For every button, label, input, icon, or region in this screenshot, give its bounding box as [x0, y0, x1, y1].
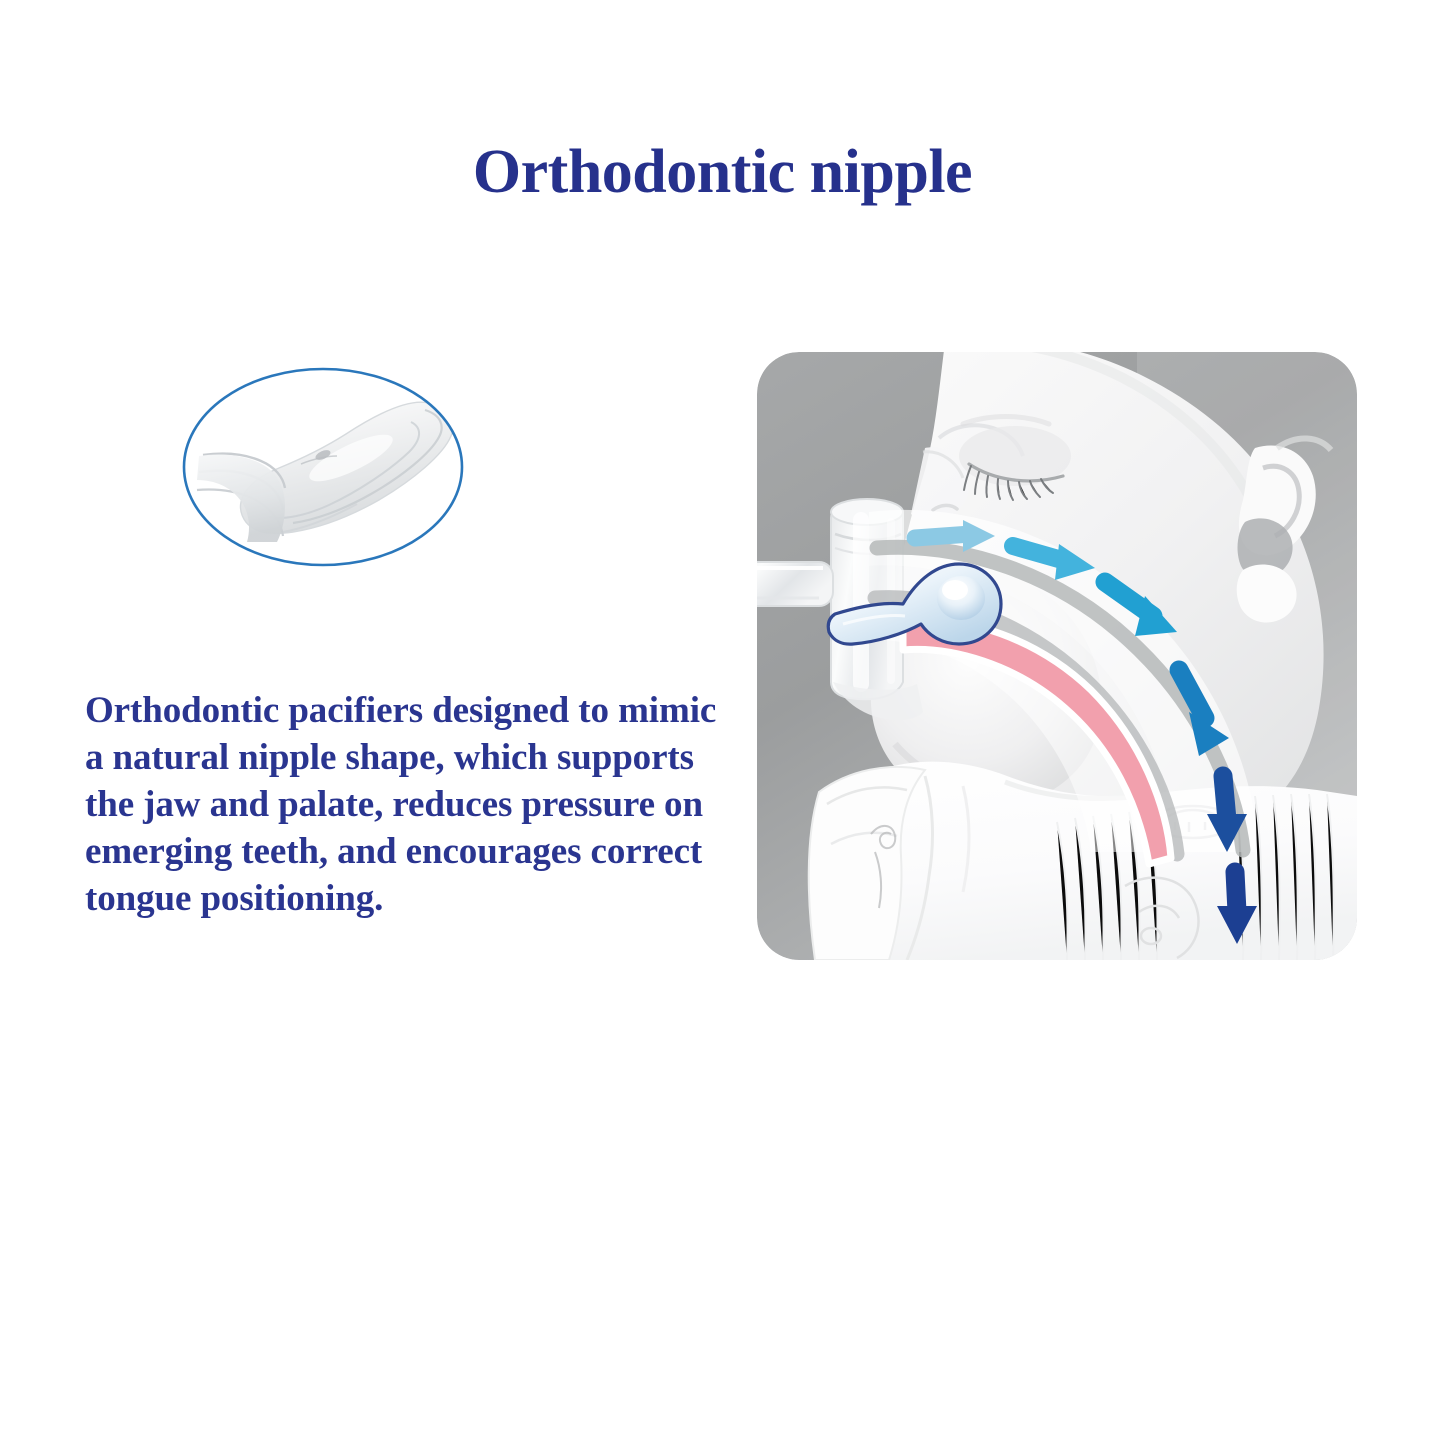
left-content-column: Orthodontic pacifiers designed to mimic … [78, 360, 738, 575]
description-paragraph: Orthodontic pacifiers designed to mimic … [85, 687, 730, 922]
orthodontic-nipple-illustration [173, 360, 473, 575]
page-title: Orthodontic nipple [0, 137, 1445, 207]
silicone-nipple-shape [197, 402, 453, 542]
baby-feeding-photo [757, 352, 1357, 960]
